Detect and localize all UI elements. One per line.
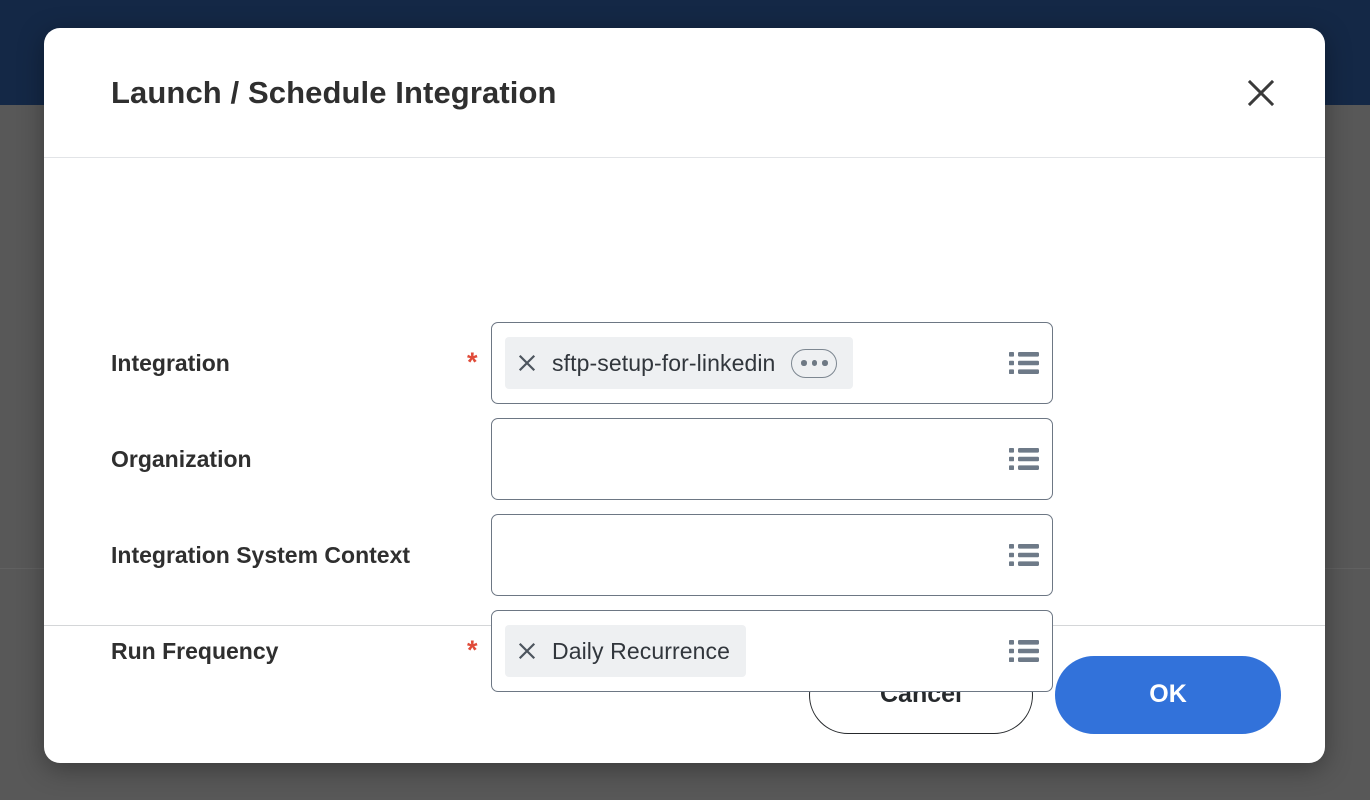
- field-label-run-frequency: Run Frequency: [111, 638, 278, 665]
- list-icon[interactable]: [1004, 535, 1044, 575]
- field-label-organization: Organization: [111, 446, 252, 473]
- form-row-run-frequency: Run Frequency * Daily Recurrence: [44, 610, 1325, 692]
- token-integration[interactable]: sftp-setup-for-linkedin: [505, 337, 853, 389]
- token-label: sftp-setup-for-linkedin: [552, 350, 775, 377]
- field-label-integration: Integration: [111, 350, 230, 377]
- field-input-organization[interactable]: [491, 418, 1053, 500]
- ellipsis-icon[interactable]: [791, 349, 837, 378]
- token-remove-icon[interactable]: [516, 640, 538, 662]
- dialog-header: Launch / Schedule Integration: [44, 28, 1325, 158]
- form-row-integration: Integration * sftp-setup-for-linkedin: [44, 322, 1325, 404]
- dialog-body: Integration * sftp-setup-for-linkedin: [44, 158, 1325, 625]
- field-input-run-frequency[interactable]: Daily Recurrence: [491, 610, 1053, 692]
- close-dialog-button[interactable]: [1239, 71, 1283, 115]
- dialog-title: Launch / Schedule Integration: [111, 75, 557, 111]
- field-input-integration-system-context[interactable]: [491, 514, 1053, 596]
- list-icon[interactable]: [1004, 439, 1044, 479]
- close-icon: [1246, 78, 1276, 108]
- form-row-organization: Organization: [44, 418, 1325, 500]
- list-icon[interactable]: [1004, 631, 1044, 671]
- launch-schedule-integration-dialog: Launch / Schedule Integration Integratio…: [44, 28, 1325, 763]
- required-marker-run-frequency: *: [467, 637, 478, 664]
- list-icon[interactable]: [1004, 343, 1044, 383]
- page-root: Launch / Schedule Integration Integratio…: [0, 0, 1370, 800]
- field-label-integration-system-context: Integration System Context: [111, 542, 410, 569]
- token-label: Daily Recurrence: [552, 638, 730, 665]
- form-row-integration-system-context: Integration System Context: [44, 514, 1325, 596]
- token-remove-icon[interactable]: [516, 352, 538, 374]
- required-marker-integration: *: [467, 349, 478, 376]
- field-input-integration[interactable]: sftp-setup-for-linkedin: [491, 322, 1053, 404]
- token-run-frequency[interactable]: Daily Recurrence: [505, 625, 746, 677]
